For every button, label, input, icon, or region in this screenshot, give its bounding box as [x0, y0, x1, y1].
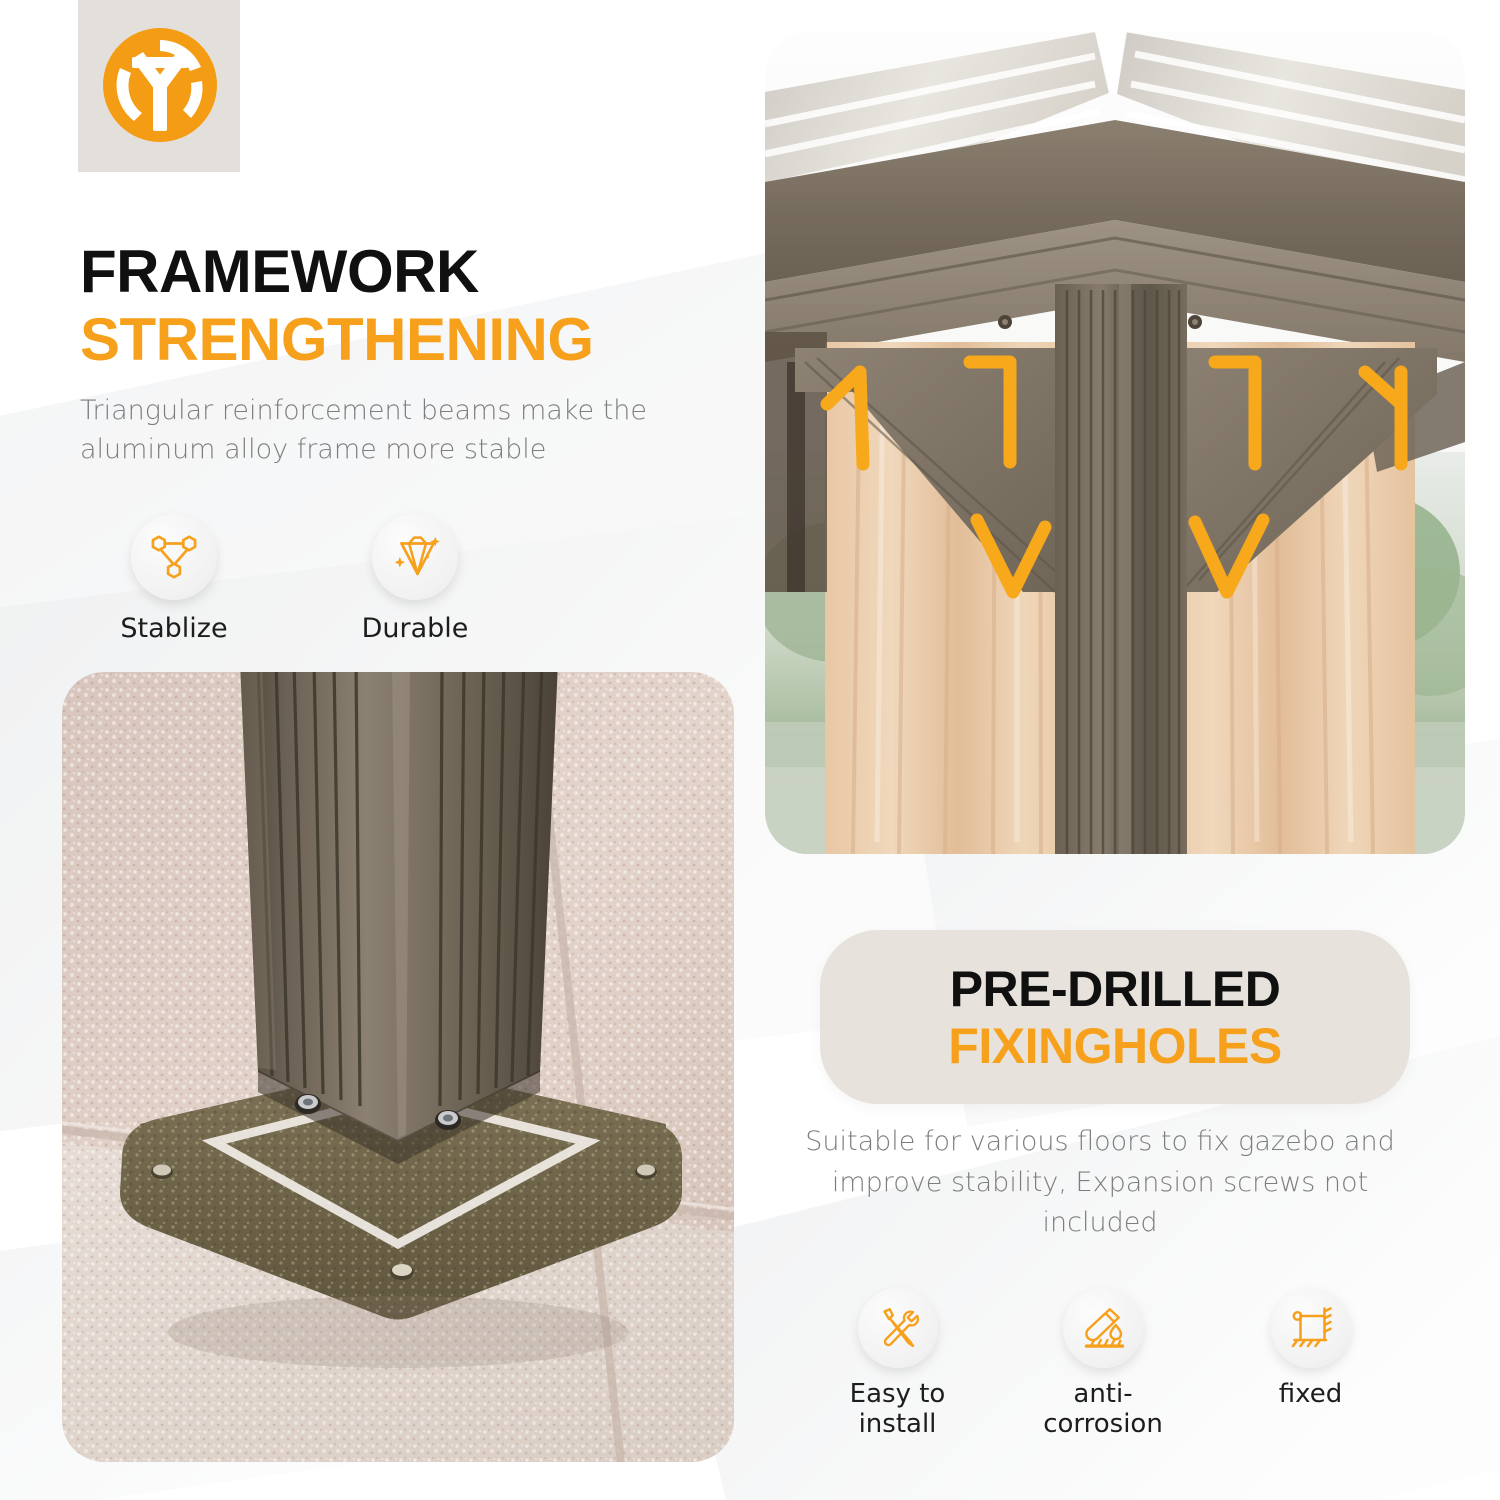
feature-fixed-label: fixed: [1248, 1380, 1373, 1410]
framework-title-line2: STRENGTHENING: [80, 308, 720, 372]
feature-easy-to-install: Easy to install: [835, 1288, 960, 1439]
post-base-plate-photo: [62, 672, 734, 1462]
screwdriver-wrench-icon: [858, 1288, 938, 1368]
tree-circle-logo-icon: [101, 26, 219, 144]
feature-stablize-label: Stablize: [104, 614, 244, 645]
predrilled-title-line2: FIXINGHOLES: [948, 1019, 1281, 1073]
anchor-bracket-icon: [1271, 1288, 1351, 1368]
feature-fixed: fixed: [1248, 1288, 1373, 1410]
feature-anti-corrosion-label: anti- corrosion: [1033, 1380, 1173, 1439]
feature-easy-to-install-label: Easy to install: [835, 1380, 960, 1439]
predrilled-title-line1: PRE-DRILLED: [950, 962, 1281, 1016]
diamond-gem-icon: [372, 514, 458, 600]
test-tube-drop-icon: [1063, 1288, 1143, 1368]
framework-heading-block: FRAMEWORK STRENGTHENING Triangular reinf…: [80, 240, 720, 469]
molecule-hexagon-icon: [131, 514, 217, 600]
feature-stablize: Stablize: [104, 514, 244, 645]
feature-anti-corrosion: anti- corrosion: [1033, 1288, 1173, 1439]
feature-durable-label: Durable: [345, 614, 485, 645]
predrilled-heading-block: PRE-DRILLED FIXINGHOLES: [820, 930, 1410, 1104]
gazebo-corner-photo: [765, 32, 1465, 854]
framework-title-line1: FRAMEWORK: [80, 240, 720, 304]
framework-description: Triangular reinforcement beams make the …: [80, 391, 720, 469]
feature-durable: Durable: [345, 514, 485, 645]
predrilled-description: Suitable for various floors to fix gazeb…: [800, 1122, 1400, 1244]
